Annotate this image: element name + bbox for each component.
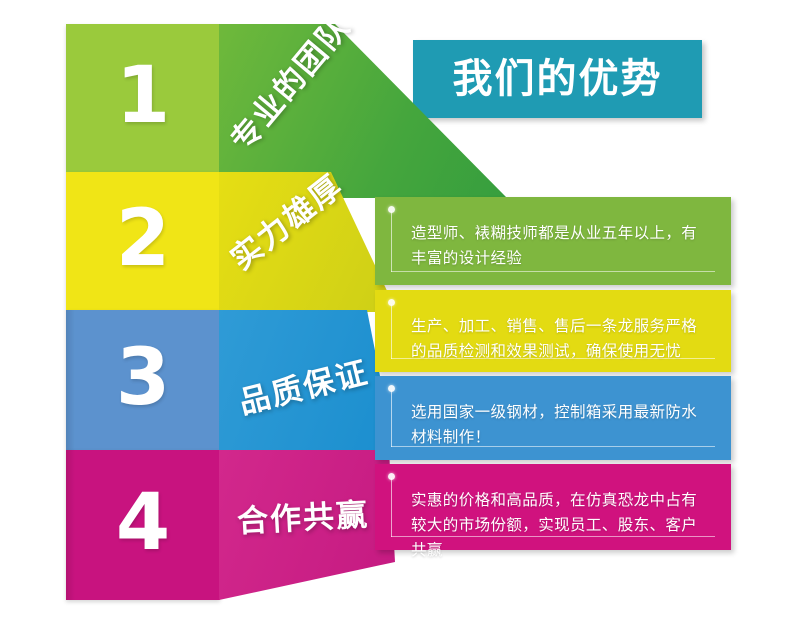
description-panel-2: 生产、加工、销售、售后一条龙服务严格的品质检测和效果测试，确保使用无忧 (375, 290, 731, 372)
number-label-3: 3 (116, 339, 170, 417)
number-block-2: 2 (66, 172, 220, 310)
number-block-4: 4 (66, 450, 220, 600)
description-text-3: 选用国家一级钢材，控制箱采用最新防水材料制作！ (411, 400, 711, 450)
number-block-3: 3 (66, 310, 220, 450)
description-panel-3: 选用国家一级钢材，控制箱采用最新防水材料制作！ (375, 376, 731, 460)
bracket-marker-icon-3 (391, 390, 392, 447)
description-panel-4: 实惠的价格和高品质，在仿真恐龙中占有较大的市场份额，实现员工、股东、客户共赢 (375, 464, 731, 550)
number-label-2: 2 (116, 200, 170, 278)
description-panel-1: 造型师、裱糊技师都是从业五年以上，有丰富的设计经验 (375, 197, 731, 285)
bracket-marker-icon-1 (391, 211, 392, 272)
bracket-marker-icon-2 (391, 304, 392, 359)
description-text-4: 实惠的价格和高品质，在仿真恐龙中占有较大的市场份额，实现员工、股东、客户共赢 (411, 488, 711, 563)
number-label-4: 4 (116, 484, 170, 562)
number-label-1: 1 (116, 57, 170, 135)
number-block-1: 1 (66, 24, 220, 172)
description-text-1: 造型师、裱糊技师都是从业五年以上，有丰富的设计经验 (411, 221, 711, 271)
description-text-2: 生产、加工、销售、售后一条龙服务严格的品质检测和效果测试，确保使用无忧 (411, 314, 711, 364)
bracket-marker-icon-4 (391, 478, 392, 537)
infographic-canvas: 我们的优势 1 2 3 4 专业的团队 实力雄厚 品质保证 合作共赢 造型师、裱… (0, 0, 800, 622)
ribbon-label-4: 合作共赢 (236, 489, 370, 541)
